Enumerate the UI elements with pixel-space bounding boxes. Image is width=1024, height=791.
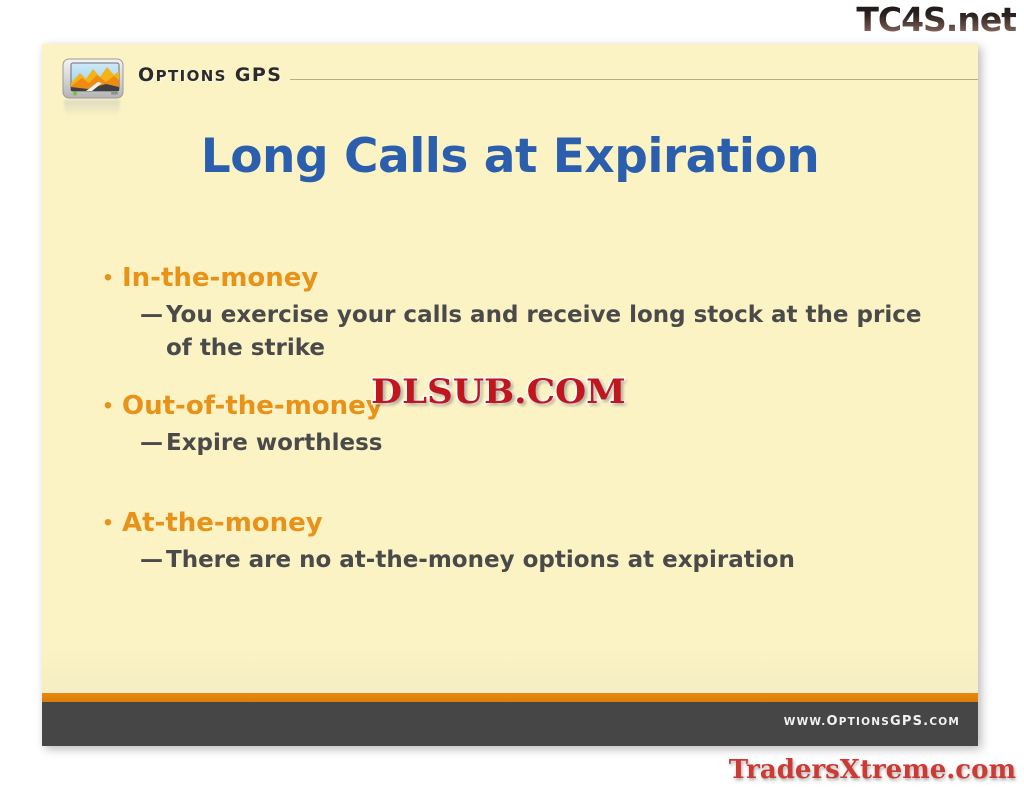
em-dash-marker: — — [140, 299, 166, 332]
footer-bar: WWW.OPTIONSGPS.COM — [42, 702, 978, 746]
sub-bullet-text: You exercise your calls and receive long… — [166, 299, 936, 365]
footer-url-prefix: WWW. — [784, 716, 827, 728]
sub-bullet-text: Expire worthless — [166, 427, 382, 460]
brand-first-letter: O — [138, 64, 156, 86]
footer-website-url: WWW.OPTIONSGPS.COM — [784, 714, 960, 729]
slide-header: OPTIONS GPS — [42, 44, 978, 102]
gps-device-icon — [62, 56, 124, 101]
slide-body: • In-the-money — You exercise your calls… — [94, 259, 958, 583]
bullet-row: • In-the-money — [94, 259, 958, 297]
dlsub-watermark: DLSUB.COM — [371, 372, 626, 412]
em-dash-marker: — — [140, 427, 166, 460]
footer-url-gps: GPS — [890, 714, 923, 729]
spacer — [94, 466, 958, 504]
bullet-heading: In-the-money — [122, 259, 318, 297]
bullet-row: • At-the-money — [94, 504, 958, 542]
bullet-block-in-the-money: • In-the-money — You exercise your calls… — [94, 259, 958, 365]
bullet-marker-icon: • — [94, 504, 122, 542]
tc4s-site-watermark: TC4S.net — [856, 2, 1016, 38]
sub-bullet-row: — Expire worthless — [140, 427, 958, 460]
brand-rest: PTIONS — [156, 67, 227, 85]
header-divider-rule — [290, 79, 978, 80]
bullet-heading: Out-of-the-money — [122, 387, 383, 425]
footer-url-ptions: PTIONS — [839, 716, 890, 728]
bullet-heading: At-the-money — [122, 504, 323, 542]
brand-wordmark: OPTIONS GPS — [138, 64, 282, 86]
em-dash-marker: — — [140, 544, 166, 577]
brand-second: GPS — [227, 64, 282, 86]
footer-accent-stripe — [42, 693, 978, 702]
bullet-marker-icon: • — [94, 387, 122, 425]
sub-bullet-row: — There are no at-the-money options at e… — [140, 544, 958, 577]
footer-url-com: COM — [929, 716, 960, 728]
page-title: Long Calls at Expiration — [42, 129, 978, 184]
sub-bullet-row: — You exercise your calls and receive lo… — [140, 299, 958, 365]
bullet-marker-icon: • — [94, 259, 122, 297]
logo-reflection — [64, 100, 120, 116]
tradersxtreme-watermark: TradersXtreme.com — [729, 755, 1016, 785]
footer-url-o: O — [826, 714, 838, 729]
presentation-slide: OPTIONS GPS Long Calls at Expiration • I… — [42, 44, 978, 746]
sub-bullet-text: There are no at-the-money options at exp… — [166, 544, 795, 577]
bullet-block-at-the-money: • At-the-money — There are no at-the-mon… — [94, 504, 958, 577]
